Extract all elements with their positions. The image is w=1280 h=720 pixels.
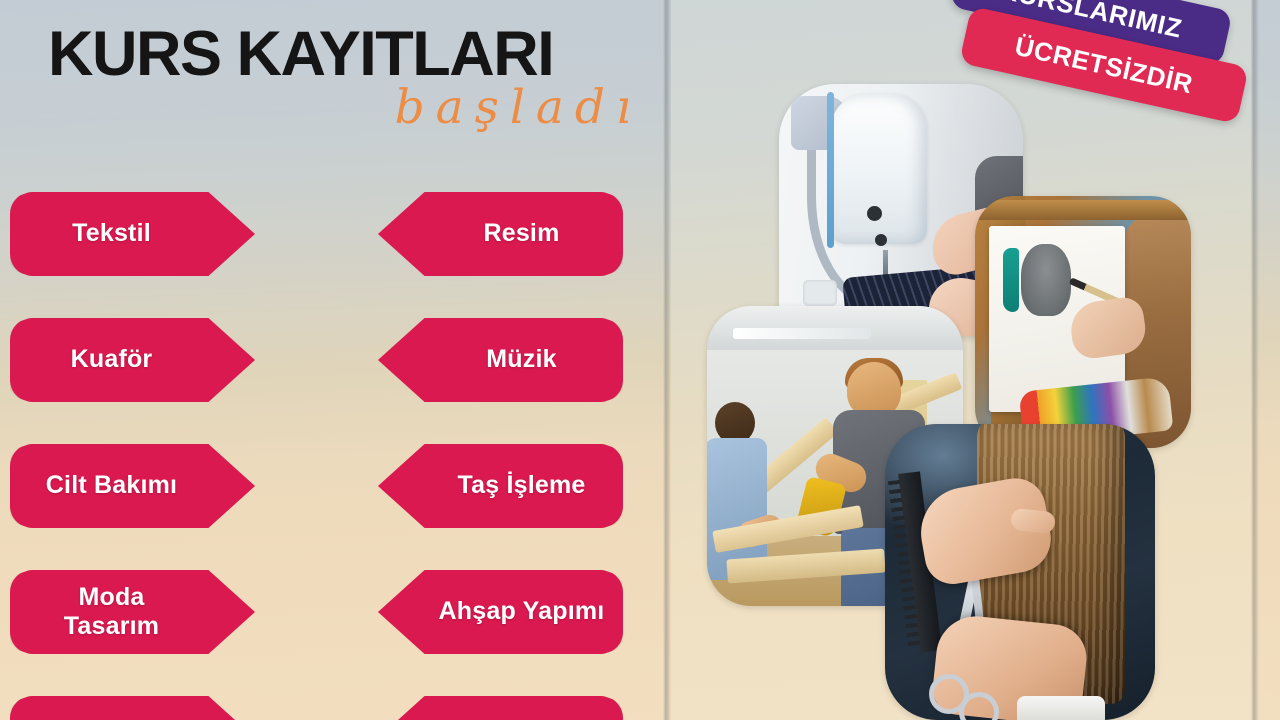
panel-divider-right xyxy=(1251,0,1259,720)
workshop-light xyxy=(733,328,871,339)
course-button-cilt-bakimi[interactable]: Cilt Bakımı xyxy=(10,444,255,528)
course-list-left-column: Tekstil Kuaför Cilt Bakımı Moda Tasarım xyxy=(10,192,255,720)
sewing-stripe xyxy=(827,92,834,248)
sewing-head xyxy=(831,94,927,244)
hairdressing-scissors-photo xyxy=(885,424,1155,720)
course-registration-poster: KURS KAYITLARI başladı Tekstil Kuaför Ci… xyxy=(0,0,1280,720)
course-button-label: Ahşap Yapımı xyxy=(439,597,605,627)
workshop-person-background xyxy=(707,402,769,582)
course-button-muzik[interactable]: Müzik xyxy=(378,318,623,402)
course-button-label: Moda Tasarım xyxy=(64,583,159,642)
course-button-label: Tekstil xyxy=(72,219,151,249)
painting-easel-photo xyxy=(975,196,1191,448)
sleeve-cuff xyxy=(1017,696,1105,720)
sewing-plate xyxy=(803,280,837,306)
course-button-resim[interactable]: Resim xyxy=(378,192,623,276)
course-button-partial-left[interactable] xyxy=(10,696,255,720)
canvas-artwork xyxy=(1021,244,1071,316)
course-button-label: Taş İşleme xyxy=(457,471,585,501)
course-button-ahsap-yapimi[interactable]: Ahşap Yapımı xyxy=(378,570,623,654)
course-button-label: Resim xyxy=(483,219,559,249)
course-button-moda-tasarim[interactable]: Moda Tasarım xyxy=(10,570,255,654)
course-button-kuafor[interactable]: Kuaför xyxy=(10,318,255,402)
course-list-right-column: Resim Müzik Taş İşleme Ahşap Yapımı xyxy=(378,192,623,720)
sewing-knob xyxy=(875,234,887,246)
poster-headline: KURS KAYITLARI başladı xyxy=(48,22,648,135)
canvas-artwork xyxy=(1003,248,1019,312)
course-button-label: Kuaför xyxy=(71,345,153,375)
course-button-label: Müzik xyxy=(486,345,556,375)
course-button-partial-right[interactable] xyxy=(378,696,623,720)
course-button-label: Cilt Bakımı xyxy=(46,471,177,501)
course-button-tekstil[interactable]: Tekstil xyxy=(10,192,255,276)
panel-divider xyxy=(663,0,671,720)
easel-beam xyxy=(975,200,1191,220)
sewing-knob xyxy=(867,206,882,221)
course-button-tas-isleme[interactable]: Taş İşleme xyxy=(378,444,623,528)
headline-main-text: KURS KAYITLARI xyxy=(48,22,648,86)
left-content-panel: KURS KAYITLARI başladı Tekstil Kuaför Ci… xyxy=(0,0,665,720)
